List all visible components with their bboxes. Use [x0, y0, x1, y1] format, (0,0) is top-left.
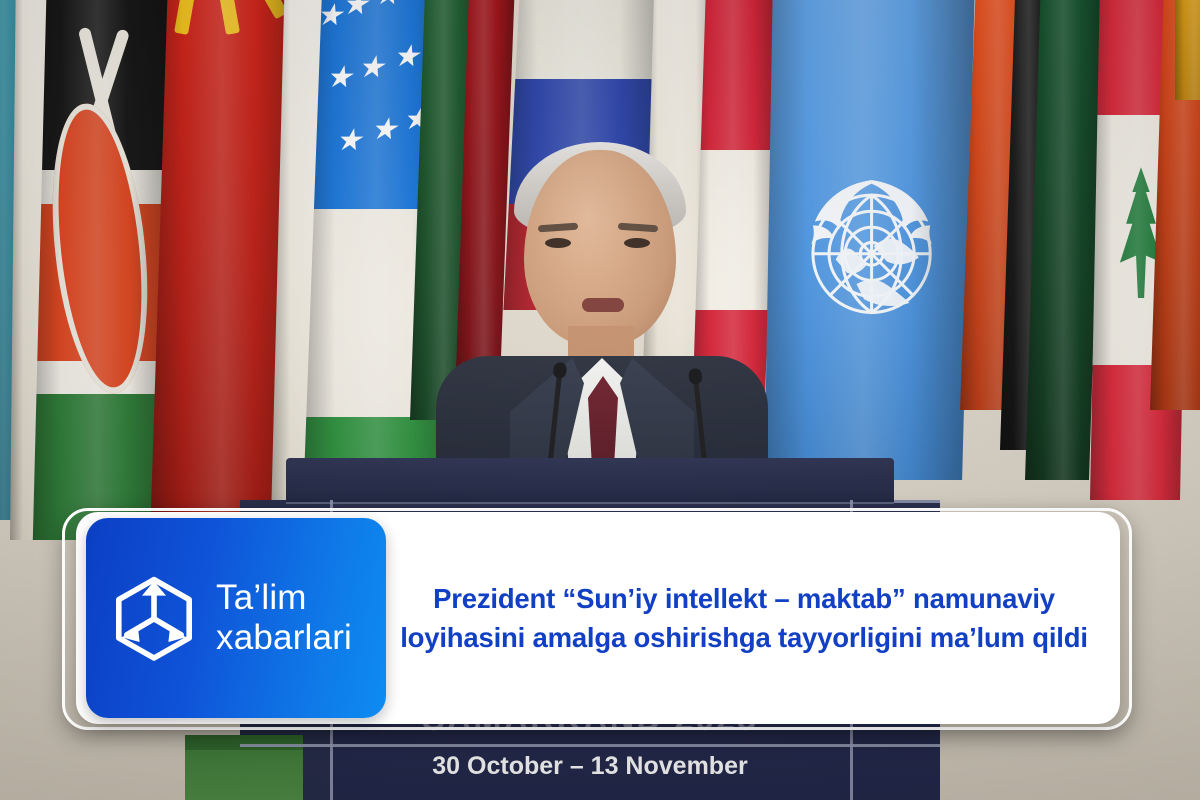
un-emblem-icon [777, 90, 966, 410]
gold-flag [1175, 0, 1200, 100]
brand-name: Ta’lim xabarlari [216, 578, 352, 658]
podium-top [286, 458, 894, 502]
brand-logo-badge[interactable]: Ta’lim xabarlari [86, 518, 386, 718]
headline-text: Prezident “Sun’iy intellekt – maktab” na… [394, 579, 1100, 657]
brand-name-line1: Ta’lim [216, 578, 307, 617]
speaker-figure [432, 150, 772, 510]
screenshot-root: ★ ★ ★ ★ ★ ★ ★ ★ ★ [0, 0, 1200, 800]
united-nations-flag [760, 0, 975, 480]
kenya-flag [30, 0, 170, 540]
event-dates: 30 October – 13 November [340, 752, 840, 781]
cube-outline-icon [106, 570, 202, 666]
podium-divider [240, 744, 940, 747]
brand-name-line2: xabarlari [216, 618, 352, 657]
